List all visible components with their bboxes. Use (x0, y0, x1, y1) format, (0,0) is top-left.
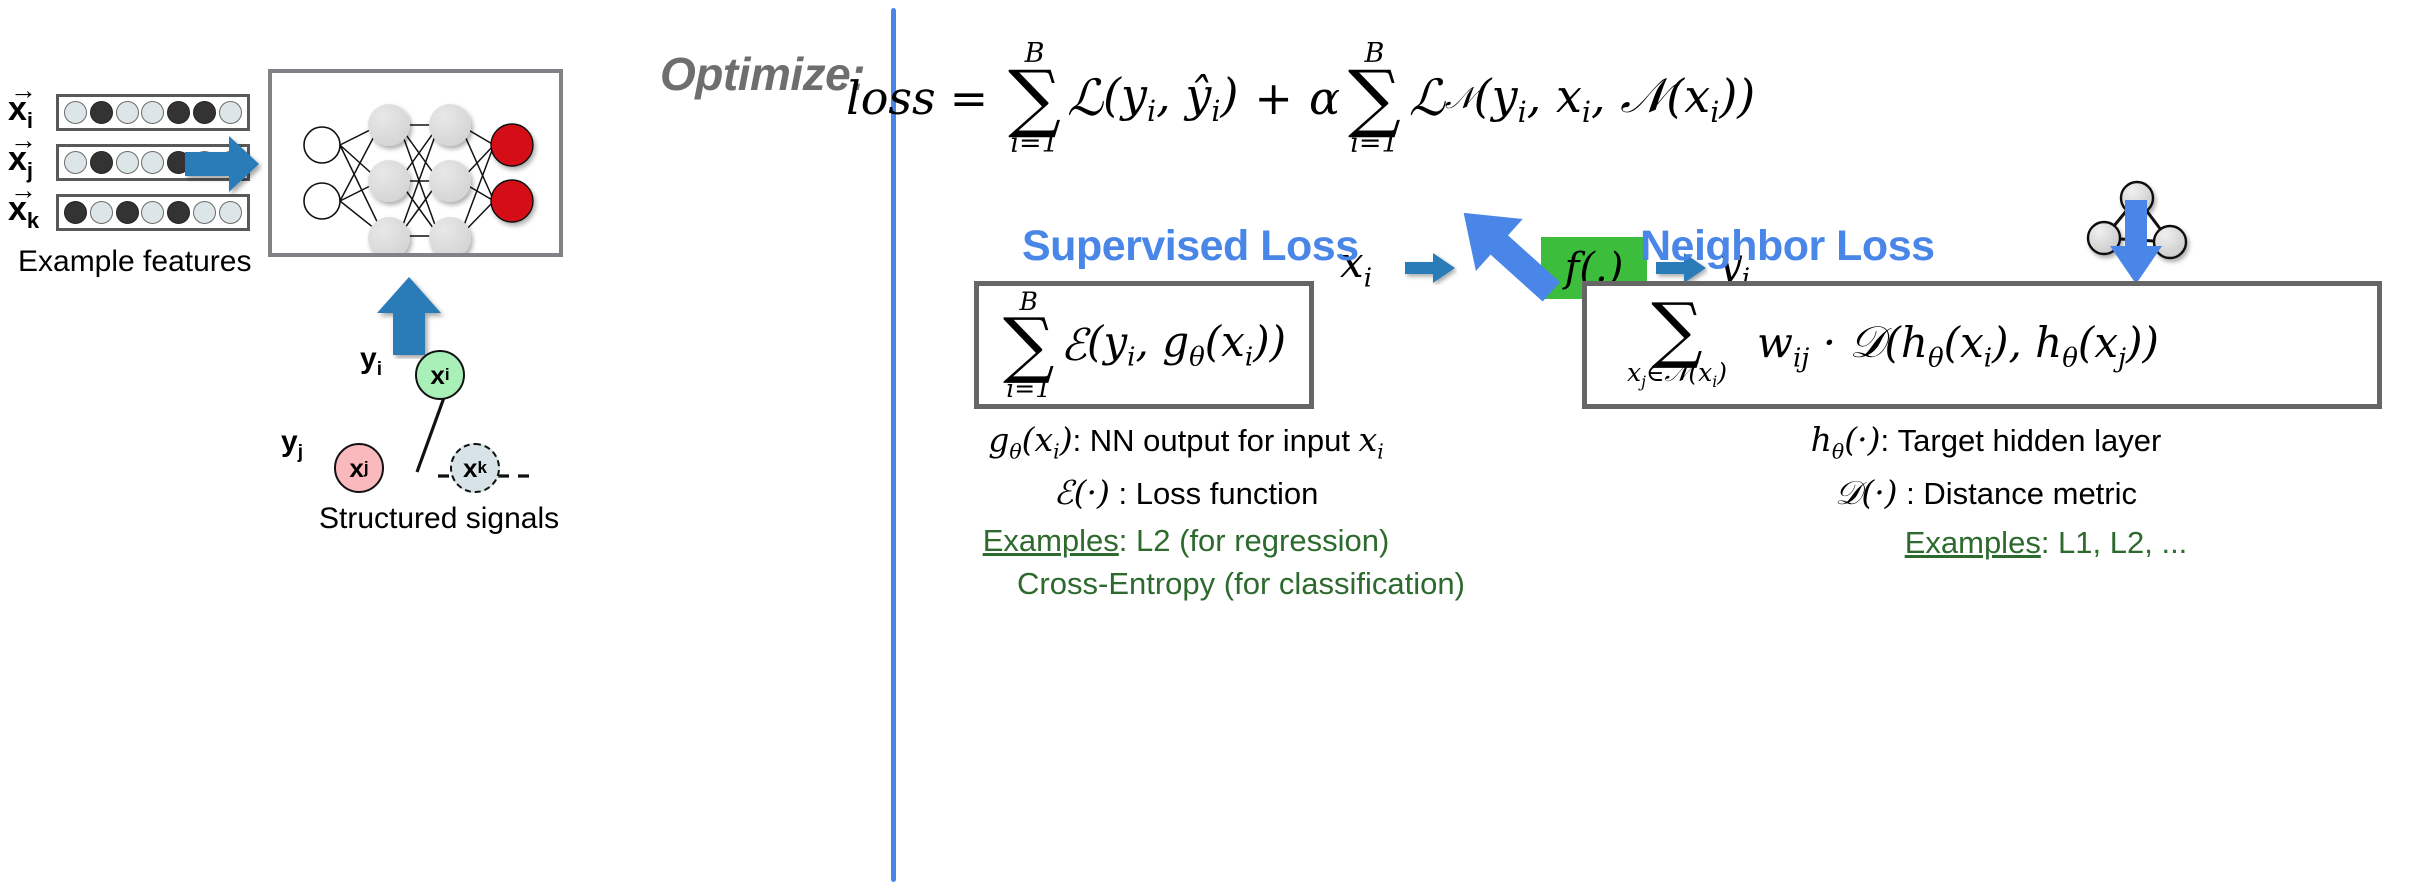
supervised-examples-line1: Examples: L2 (for regression) (896, 523, 1476, 559)
sum-lower-limit: i=1 (1010, 130, 1058, 157)
feature-cell (90, 151, 113, 174)
graph-node-xi: xi (415, 350, 465, 400)
feature-cell (90, 101, 113, 124)
right-panel: Optimize: loss = B ∑ i=1 ℒ(yi, ŷi) + α B… (896, 0, 2412, 890)
node-subscript: j (364, 458, 369, 478)
supervised-formula-args: (yi, gθ(xi)) (1087, 317, 1286, 372)
feature-cell (90, 201, 113, 224)
legend-math-h: hθ(·) (1811, 420, 1881, 459)
neighbor-loss-arrow-icon (2108, 200, 2164, 286)
feature-cell (116, 101, 139, 124)
neighbor-legend: hθ(·): Target hidden layer 𝒟(·) : Distan… (1596, 420, 2376, 561)
left-panel: → xi → xj → (0, 0, 890, 890)
legend-math-E: ℰ(·) (1054, 473, 1110, 512)
feature-cell (116, 151, 139, 174)
supervised-loss-arrow-icon (1441, 186, 1571, 316)
graph-node-xj: xj (334, 443, 384, 493)
plus-sign: + (1238, 71, 1309, 125)
example-features-caption: Example features (18, 245, 251, 279)
node-letter: x (430, 360, 444, 391)
label-subscript: j (298, 442, 303, 463)
loss-args: (yi, ŷi) (1103, 68, 1238, 128)
script-N-subscript: 𝒩 (1445, 81, 1474, 116)
graph-node-xk: xk (450, 443, 500, 493)
node-letter: x (463, 453, 477, 484)
supervised-examples-line2: Cross-Entropy (for classification) (896, 566, 1476, 602)
graph-node-label-yj: yj (281, 425, 303, 464)
feature-cell (167, 101, 190, 124)
legend-text: : NN output for input (1073, 423, 1359, 458)
feature-vector-xi (56, 94, 250, 131)
legend-text: : Target hidden layer (1880, 423, 2161, 458)
examples-value: : L1, L2, ... (2041, 525, 2187, 560)
features-to-network-arrow-icon (185, 128, 263, 200)
input-node (304, 183, 340, 219)
graph-node-label-yi: yi (360, 342, 382, 381)
hidden-node (368, 104, 410, 146)
legend-line-h-theta: hθ(·): Target hidden layer (1596, 420, 2376, 464)
label-subscript: i (377, 359, 382, 380)
legend-line-E: ℰ(·) : Loss function (896, 473, 1476, 512)
legend-text: : Distance metric (1898, 476, 2137, 511)
pipeline-input-subscript: i (1364, 263, 1372, 293)
vector-label-xk: → xk (8, 192, 39, 232)
node-letter: x (349, 453, 363, 484)
legend-math-D: 𝒟(·) (1835, 473, 1898, 512)
feature-cell (64, 101, 87, 124)
neural-network-graph (272, 73, 559, 253)
supervised-legend: gθ(xi): NN output for input xi ℰ(·) : Lo… (896, 420, 1476, 602)
summation: ∑ xj∈𝒩(xi) (1627, 299, 1727, 391)
main-equation: loss = B ∑ i=1 ℒ(yi, ŷi) + α B ∑ i=1 ℒ𝒩(… (846, 40, 1755, 157)
neighbor-formula-body: wij · 𝒟(hθ(xi), hθ(xj)) (1757, 317, 2159, 373)
node-subscript: k (478, 458, 487, 478)
examples-label: Examples (983, 523, 1119, 558)
neighbor-loss-title: Neighbor Loss (1640, 222, 1935, 271)
vector-arrow-icon: → (10, 177, 37, 204)
sum-lower-limit: i=1 (1006, 376, 1051, 401)
neighbor-loss-box: ∑ xj∈𝒩(xi) wij · 𝒟(hθ(xi), hθ(xj)) (1582, 281, 2382, 409)
supervised-loss-formula: B ∑ i=1 ℰ(yi, gθ(xi)) (979, 289, 1286, 400)
alpha-symbol: α (1309, 71, 1340, 125)
optimize-label: Optimize: (660, 47, 865, 101)
supervised-loss-box: B ∑ i=1 ℰ(yi, gθ(xi)) (974, 281, 1314, 409)
script-E: ℰ (1060, 320, 1087, 371)
examples-value: : L2 (for regression) (1119, 523, 1390, 558)
loss-term: loss (846, 71, 936, 125)
hidden-node (429, 104, 471, 146)
sum-lower-limit: i=1 (1350, 130, 1398, 157)
neural-network-box (268, 69, 563, 257)
neighbor-examples-line1: Examples: L1, L2, ... (1596, 525, 2376, 561)
feature-cell (64, 201, 87, 224)
label-letter: y (281, 425, 298, 458)
summation: B ∑ i=1 (1003, 289, 1054, 400)
feature-cell (193, 201, 216, 224)
equals-sign: = (936, 71, 1003, 125)
vector-arrow-icon: → (10, 77, 37, 104)
neighbor-loss-args: (yi, xi, 𝒩(xi)) (1474, 68, 1756, 129)
node-subscript: i (445, 365, 450, 385)
feature-cell (64, 151, 87, 174)
summation-1: B ∑ i=1 (1008, 40, 1061, 157)
vector-subscript: k (27, 208, 39, 233)
output-node (491, 180, 533, 222)
legend-math-g: gθ(xi) (988, 420, 1072, 459)
legend-line-D: 𝒟(·) : Distance metric (1596, 473, 2376, 513)
feature-cell (219, 201, 242, 224)
graph-edge-solid (417, 392, 446, 472)
legend-line-g-theta: gθ(xi): NN output for input xi (896, 420, 1476, 464)
feature-cell (116, 201, 139, 224)
feature-cell (141, 201, 164, 224)
label-letter: y (360, 342, 377, 375)
supervised-loss-title: Supervised Loss (1022, 222, 1359, 271)
neighbor-loss-formula: ∑ xj∈𝒩(xi) wij · 𝒟(hθ(xi), hθ(xj)) (1587, 299, 2159, 391)
input-node (304, 127, 340, 163)
legend-math-xi: xi (1359, 420, 1384, 459)
structured-signals-caption: Structured signals (319, 502, 559, 536)
summation-2: B ∑ i=1 (1348, 40, 1401, 157)
feature-cell (141, 151, 164, 174)
hidden-node (429, 160, 471, 202)
examples-label: Examples (1905, 525, 2041, 560)
legend-text: : Loss function (1110, 476, 1319, 511)
output-node (491, 124, 533, 166)
sum-lower-limit: xj∈𝒩(xi) (1627, 360, 1727, 391)
neighbor-loss-script-L: ℒ (1409, 69, 1445, 127)
feature-cell (167, 201, 190, 224)
vector-arrow-icon: → (10, 127, 37, 154)
hidden-node (368, 160, 410, 202)
loss-script-L: ℒ (1067, 69, 1103, 127)
feature-cell (141, 101, 164, 124)
feature-cell (193, 101, 216, 124)
feature-cell (219, 101, 242, 124)
